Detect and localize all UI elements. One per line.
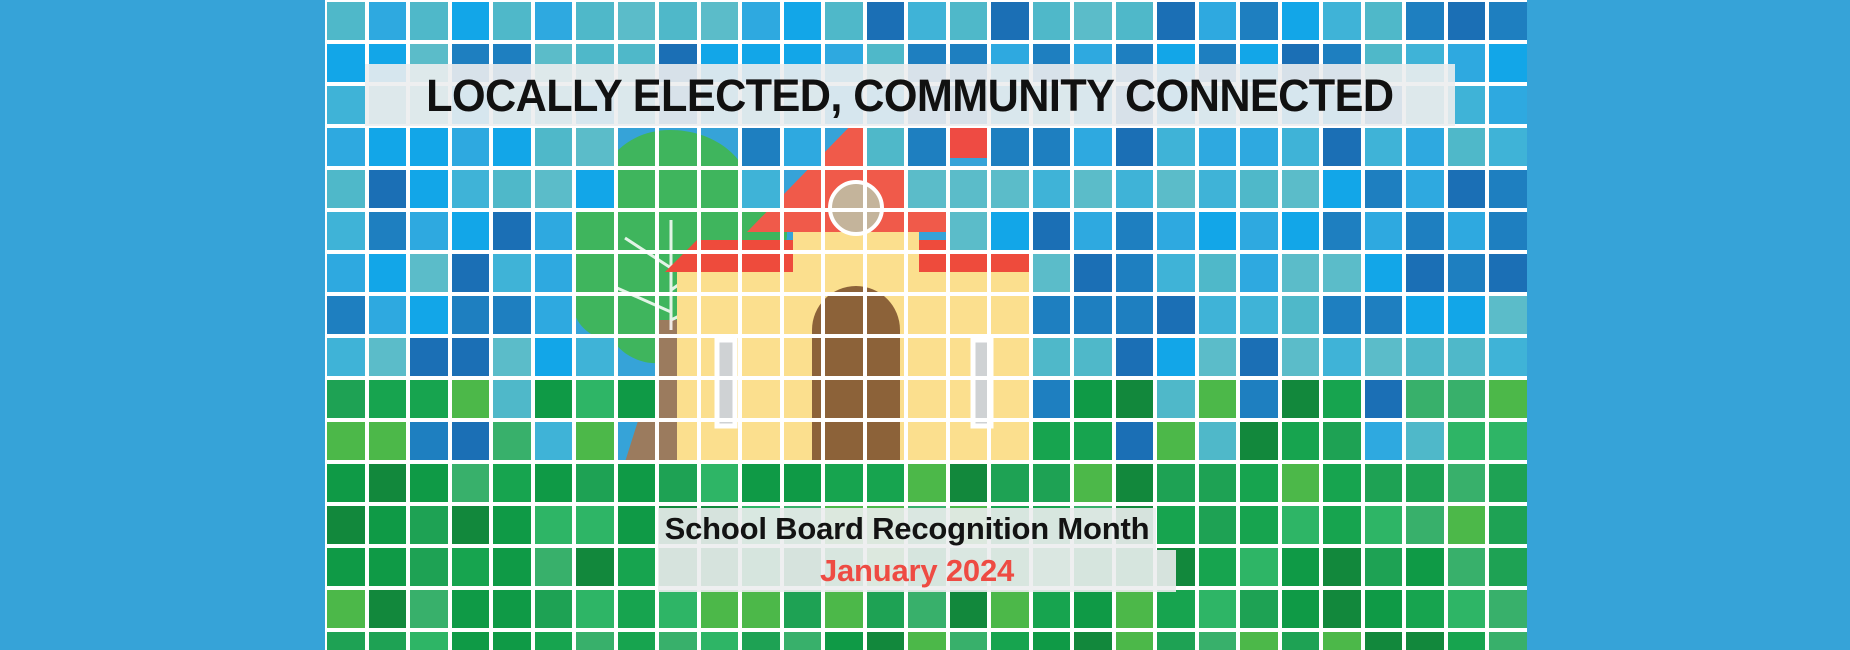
- mosaic-canvas: [325, 0, 1527, 650]
- poster-banner: LOCALLY ELECTED, COMMUNITY CONNECTED Sch…: [0, 0, 1850, 650]
- mosaic-grid: [325, 0, 1527, 650]
